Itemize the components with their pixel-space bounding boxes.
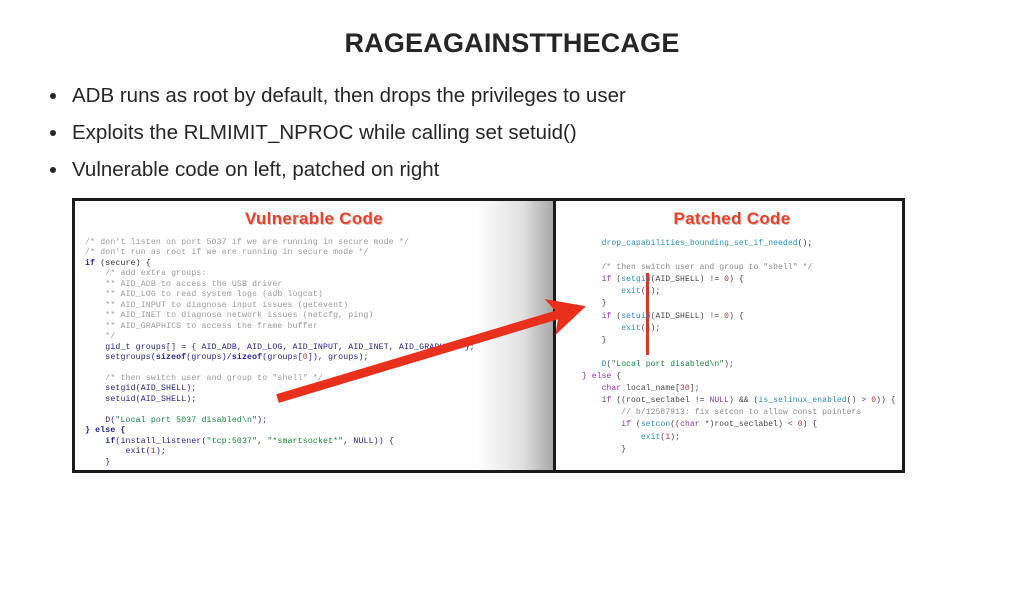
bullet-list: ADB runs as root by default, then drops … — [40, 83, 940, 194]
code-comparison-figure: Vulnerable Code /* don't listen on port … — [72, 198, 905, 473]
bullet-item-1: ADB runs as root by default, then drops … — [40, 83, 940, 109]
vulnerable-code-header: Vulnerable Code — [75, 209, 553, 229]
code-panes: Vulnerable Code /* don't listen on port … — [75, 201, 902, 470]
patched-code-block: drop_capabilities_bounding_set_if_needed… — [582, 238, 896, 456]
bullet-text: ADB runs as root by default, then drops … — [72, 84, 626, 107]
patched-code-header: Patched Code — [556, 209, 902, 229]
slide: RAGEAGAINSTTHECAGE ADB runs as root by d… — [0, 0, 1024, 598]
patched-code-pane: Patched Code drop_capabilities_bounding_… — [556, 201, 902, 470]
bullet-dot-icon — [50, 130, 56, 136]
bullet-item-3: Vulnerable code on left, patched on righ… — [40, 157, 940, 183]
bullet-dot-icon — [50, 93, 56, 99]
bullet-dot-icon — [50, 167, 56, 173]
bullet-text: Exploits the RLMIMIT_NPROC while calling… — [72, 121, 577, 144]
bullet-text: Vulnerable code on left, patched on righ… — [72, 158, 439, 181]
bullet-item-2: Exploits the RLMIMIT_NPROC while calling… — [40, 120, 940, 146]
vulnerable-code-block: /* don't listen on port 5037 if we are r… — [85, 238, 475, 468]
vulnerable-code-pane: Vulnerable Code /* don't listen on port … — [75, 201, 553, 470]
page-title: RAGEAGAINSTTHECAGE — [0, 28, 1024, 59]
